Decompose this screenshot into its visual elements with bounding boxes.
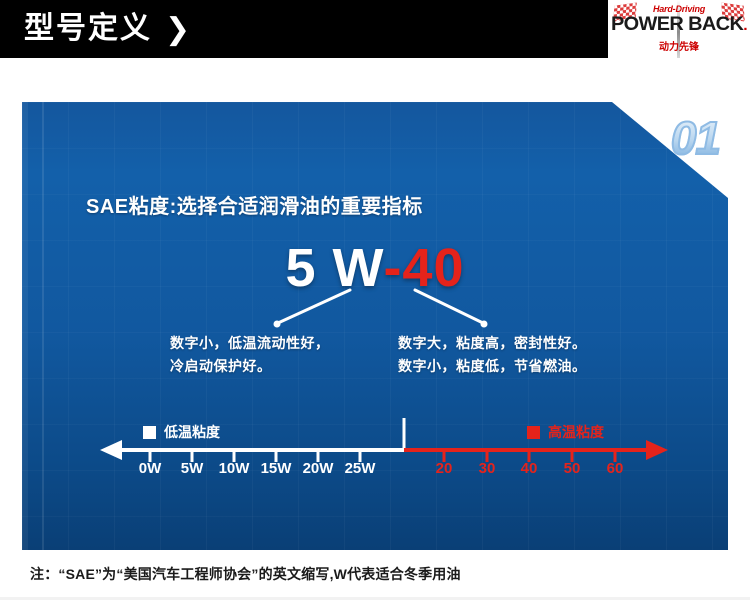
scale-tick-cold-1: 5W [181, 460, 204, 477]
logo-dot: . [743, 17, 747, 34]
callout-right-line1: 数字大，粘度高，密封性好。 [398, 332, 587, 355]
logo-chinese-name: 动力先锋 [608, 38, 750, 53]
scale-tick-hot-0: 20 [436, 460, 453, 477]
callout-right-line2: 数字小，粘度低，节省燃油。 [398, 355, 587, 378]
section-number: 01 [671, 114, 720, 162]
page-header: 型号定义 ❯ Hard-Driving POWER BACK. 动力先锋 [0, 0, 750, 58]
page-title: 型号定义 [24, 9, 152, 49]
callout-leader-lines [0, 285, 750, 335]
logo-wordmark: POWER BACK. [608, 14, 750, 37]
callout-left: 数字小，低温流动性好， 冷启动保护好。 [170, 332, 330, 378]
header-spacer [0, 58, 750, 102]
logo-wordmark-text: POWER BACK [611, 14, 743, 35]
scale-tick-cold-0: 0W [139, 460, 162, 477]
scale-tick-cold-5: 25W [345, 460, 376, 477]
viscosity-scale-axis [0, 400, 750, 500]
chevron-right-icon: ❯ [165, 10, 190, 50]
callout-left-line2: 冷启动保护好。 [170, 355, 330, 378]
scale-tick-cold-4: 20W [303, 460, 334, 477]
scale-tick-hot-3: 50 [564, 460, 581, 477]
scale-tick-hot-2: 40 [521, 460, 538, 477]
scale-tick-cold-2: 10W [219, 460, 250, 477]
scale-tick-hot-1: 30 [479, 460, 496, 477]
callout-left-line1: 数字小，低温流动性好， [170, 332, 330, 355]
scale-tick-hot-4: 60 [607, 460, 624, 477]
footnote: 注：“SAE”为“美国汽车工程师协会”的英文缩写,W代表适合冬季用油 [30, 564, 461, 584]
scale-tick-cold-3: 15W [261, 460, 292, 477]
callout-right: 数字大，粘度高，密封性好。 数字小，粘度低，节省燃油。 [398, 332, 587, 378]
section-heading: SAE粘度:选择合适润滑油的重要指标 [86, 190, 423, 219]
logo-tagline: Hard-Driving [608, 4, 750, 14]
brand-logo: Hard-Driving POWER BACK. 动力先锋 [608, 0, 750, 58]
